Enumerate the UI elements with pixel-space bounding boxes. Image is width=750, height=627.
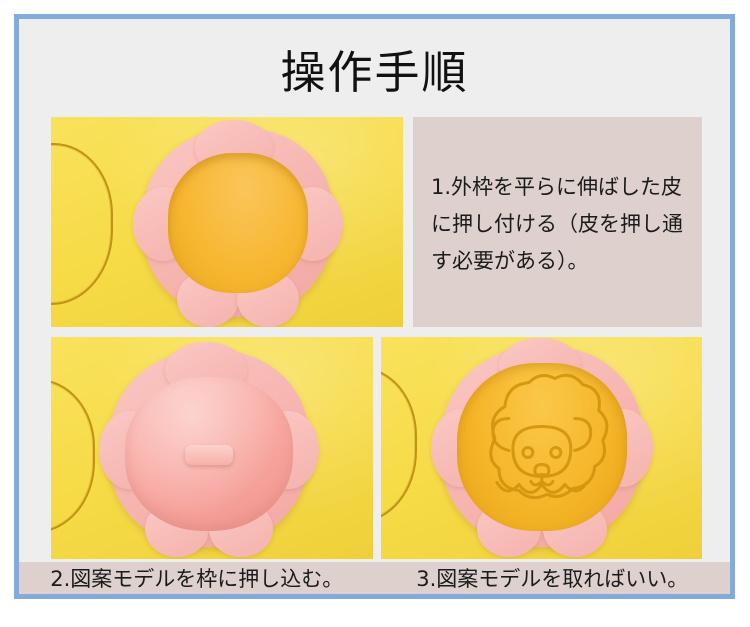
caption-band: 2.図案モデルを枠に押し込む。 3.図案モデルを取ればいい。 — [19, 562, 730, 594]
pattern-stamp-plunger — [125, 377, 293, 531]
flower-cutter-ring — [143, 129, 333, 317]
stamp-handle — [185, 445, 233, 465]
page-title: 操作手順 — [19, 47, 730, 99]
flower-cutter-ring — [109, 351, 309, 547]
step-2-photo — [51, 337, 373, 559]
step-1-photo — [51, 117, 403, 327]
frame-inner-background: 操作手順 1.外枠を平らに伸ばした皮に押し付ける（皮を押し通す必要がある）。 — [19, 19, 730, 594]
step-3-caption: 3.図案モデルを取ればいい。 — [375, 562, 731, 594]
step-2-caption: 2.図案モデルを枠に押し込む。 — [19, 562, 375, 594]
product-instruction-graphic: 操作手順 1.外枠を平らに伸ばした皮に押し付ける（皮を押し通す必要がある）。 — [0, 0, 750, 627]
sheep-dough-disc — [457, 363, 627, 531]
step-1-text-panel: 1.外枠を平らに伸ばした皮に押し付ける（皮を押し通す必要がある）。 — [413, 117, 702, 327]
sheep-face-icon — [457, 363, 627, 531]
bordered-frame: 操作手順 1.外枠を平らに伸ばした皮に押し付ける（皮を押し通す必要がある）。 — [14, 14, 735, 599]
sheep-stamped-dough — [441, 347, 643, 547]
cutter-opening — [168, 153, 309, 292]
step-3-photo — [381, 337, 702, 559]
flower-cutter-ring — [441, 347, 643, 547]
step-1-text: 1.外枠を平らに伸ばした皮に押し付ける（皮を押し通す必要がある）。 — [431, 169, 688, 280]
